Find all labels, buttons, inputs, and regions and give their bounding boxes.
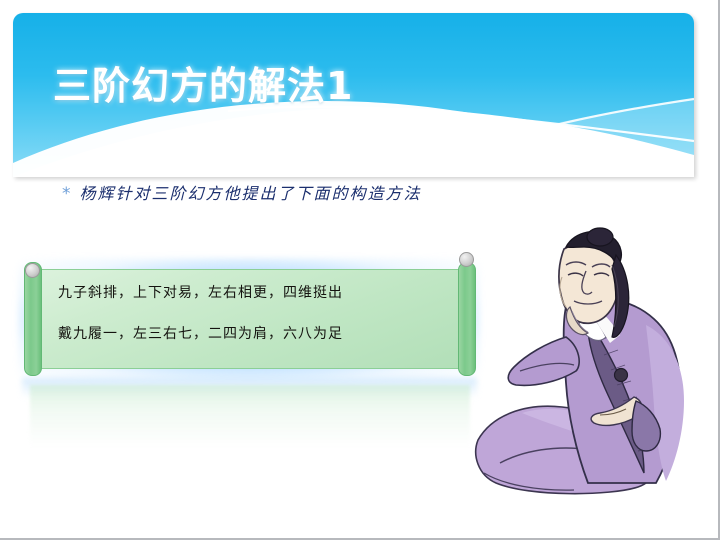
title-banner: 三阶幻方的解法1 — [13, 13, 694, 177]
scroll-callout: 九子斜排，上下对易，左右相更，四维挺出 戴九履一，左三右七，二四为肩，六八为足 — [18, 258, 480, 380]
page-title: 三阶幻方的解法1 — [53, 55, 353, 110]
bullet-row: * 杨辉针对三阶幻方他提出了下面的构造方法 — [62, 183, 422, 205]
bullet-text: 杨辉针对三阶幻方他提出了下面的构造方法 — [80, 183, 422, 205]
scroll-knob-left-icon — [25, 263, 40, 278]
presentation-slide: 三阶幻方的解法1 * 杨辉针对三阶幻方他提出了下面的构造方法 — [0, 0, 720, 540]
scholar-illustration — [470, 215, 710, 505]
scroll-roll-left-icon — [24, 262, 42, 376]
scroll-line: 九子斜排，上下对易，左右相更，四维挺出 — [58, 282, 458, 302]
scroll-knob-right-icon — [459, 252, 474, 267]
bullet-asterisk-icon: * — [62, 183, 71, 205]
scroll-line: 戴九履一，左三右七，二四为肩，六八为足 — [58, 323, 458, 343]
scroll-roll-right-icon — [458, 262, 476, 376]
scroll-reflection — [30, 385, 470, 447]
scroll-text-block: 九子斜排，上下对易，左右相更，四维挺出 戴九履一，左三右七，二四为肩，六八为足 — [58, 282, 458, 343]
